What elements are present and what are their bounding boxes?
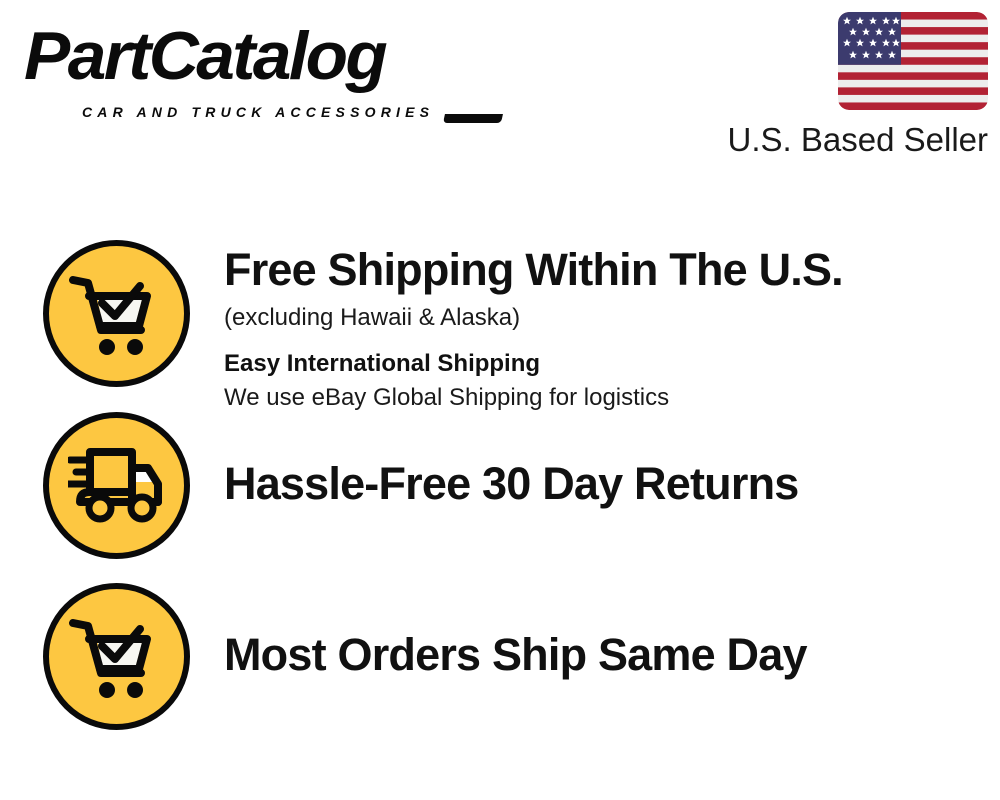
feature-subtitle-strong: Easy International Shipping: [224, 349, 1000, 379]
brand-logo: PartCatalog CAR AND TRUCK ACCESSORIES: [24, 18, 494, 118]
feature-subtitle-detail: We use eBay Global Shipping for logistic…: [224, 383, 1000, 413]
us-based-seller-label: U.S. Based Seller: [718, 120, 988, 160]
feature-subtitle: (excluding Hawaii & Alaska): [224, 303, 1000, 333]
shopping-cart-check-icon: [69, 611, 165, 703]
feature-text-block: Free Shipping Within The U.S. (excluding…: [224, 240, 1000, 413]
feature-row: Most Orders Ship Same Day: [0, 583, 1000, 730]
feature-row: Free Shipping Within The U.S. (excluding…: [0, 240, 1000, 413]
feature-text-block: Hassle-Free 30 Day Returns: [224, 412, 1000, 510]
us-based-seller-block: U.S. Based Seller: [718, 12, 988, 160]
logo-descender-flourish: [443, 114, 503, 123]
shopping-cart-check-icon: [69, 268, 165, 360]
us-flag-icon: [838, 12, 988, 110]
feature-title: Most Orders Ship Same Day: [224, 629, 1000, 681]
delivery-truck-icon: [68, 446, 166, 526]
feature-title: Free Shipping Within The U.S.: [224, 244, 1000, 296]
brand-wordmark: PartCatalog: [24, 18, 385, 94]
shopping-cart-check-badge: [43, 583, 190, 730]
feature-title: Hassle-Free 30 Day Returns: [224, 458, 1000, 510]
delivery-truck-badge: [43, 412, 190, 559]
shopping-cart-check-badge: [43, 240, 190, 387]
feature-row: Hassle-Free 30 Day Returns: [0, 412, 1000, 559]
brand-tagline: CAR AND TRUCK ACCESSORIES: [82, 104, 434, 120]
feature-text-block: Most Orders Ship Same Day: [224, 583, 1000, 681]
